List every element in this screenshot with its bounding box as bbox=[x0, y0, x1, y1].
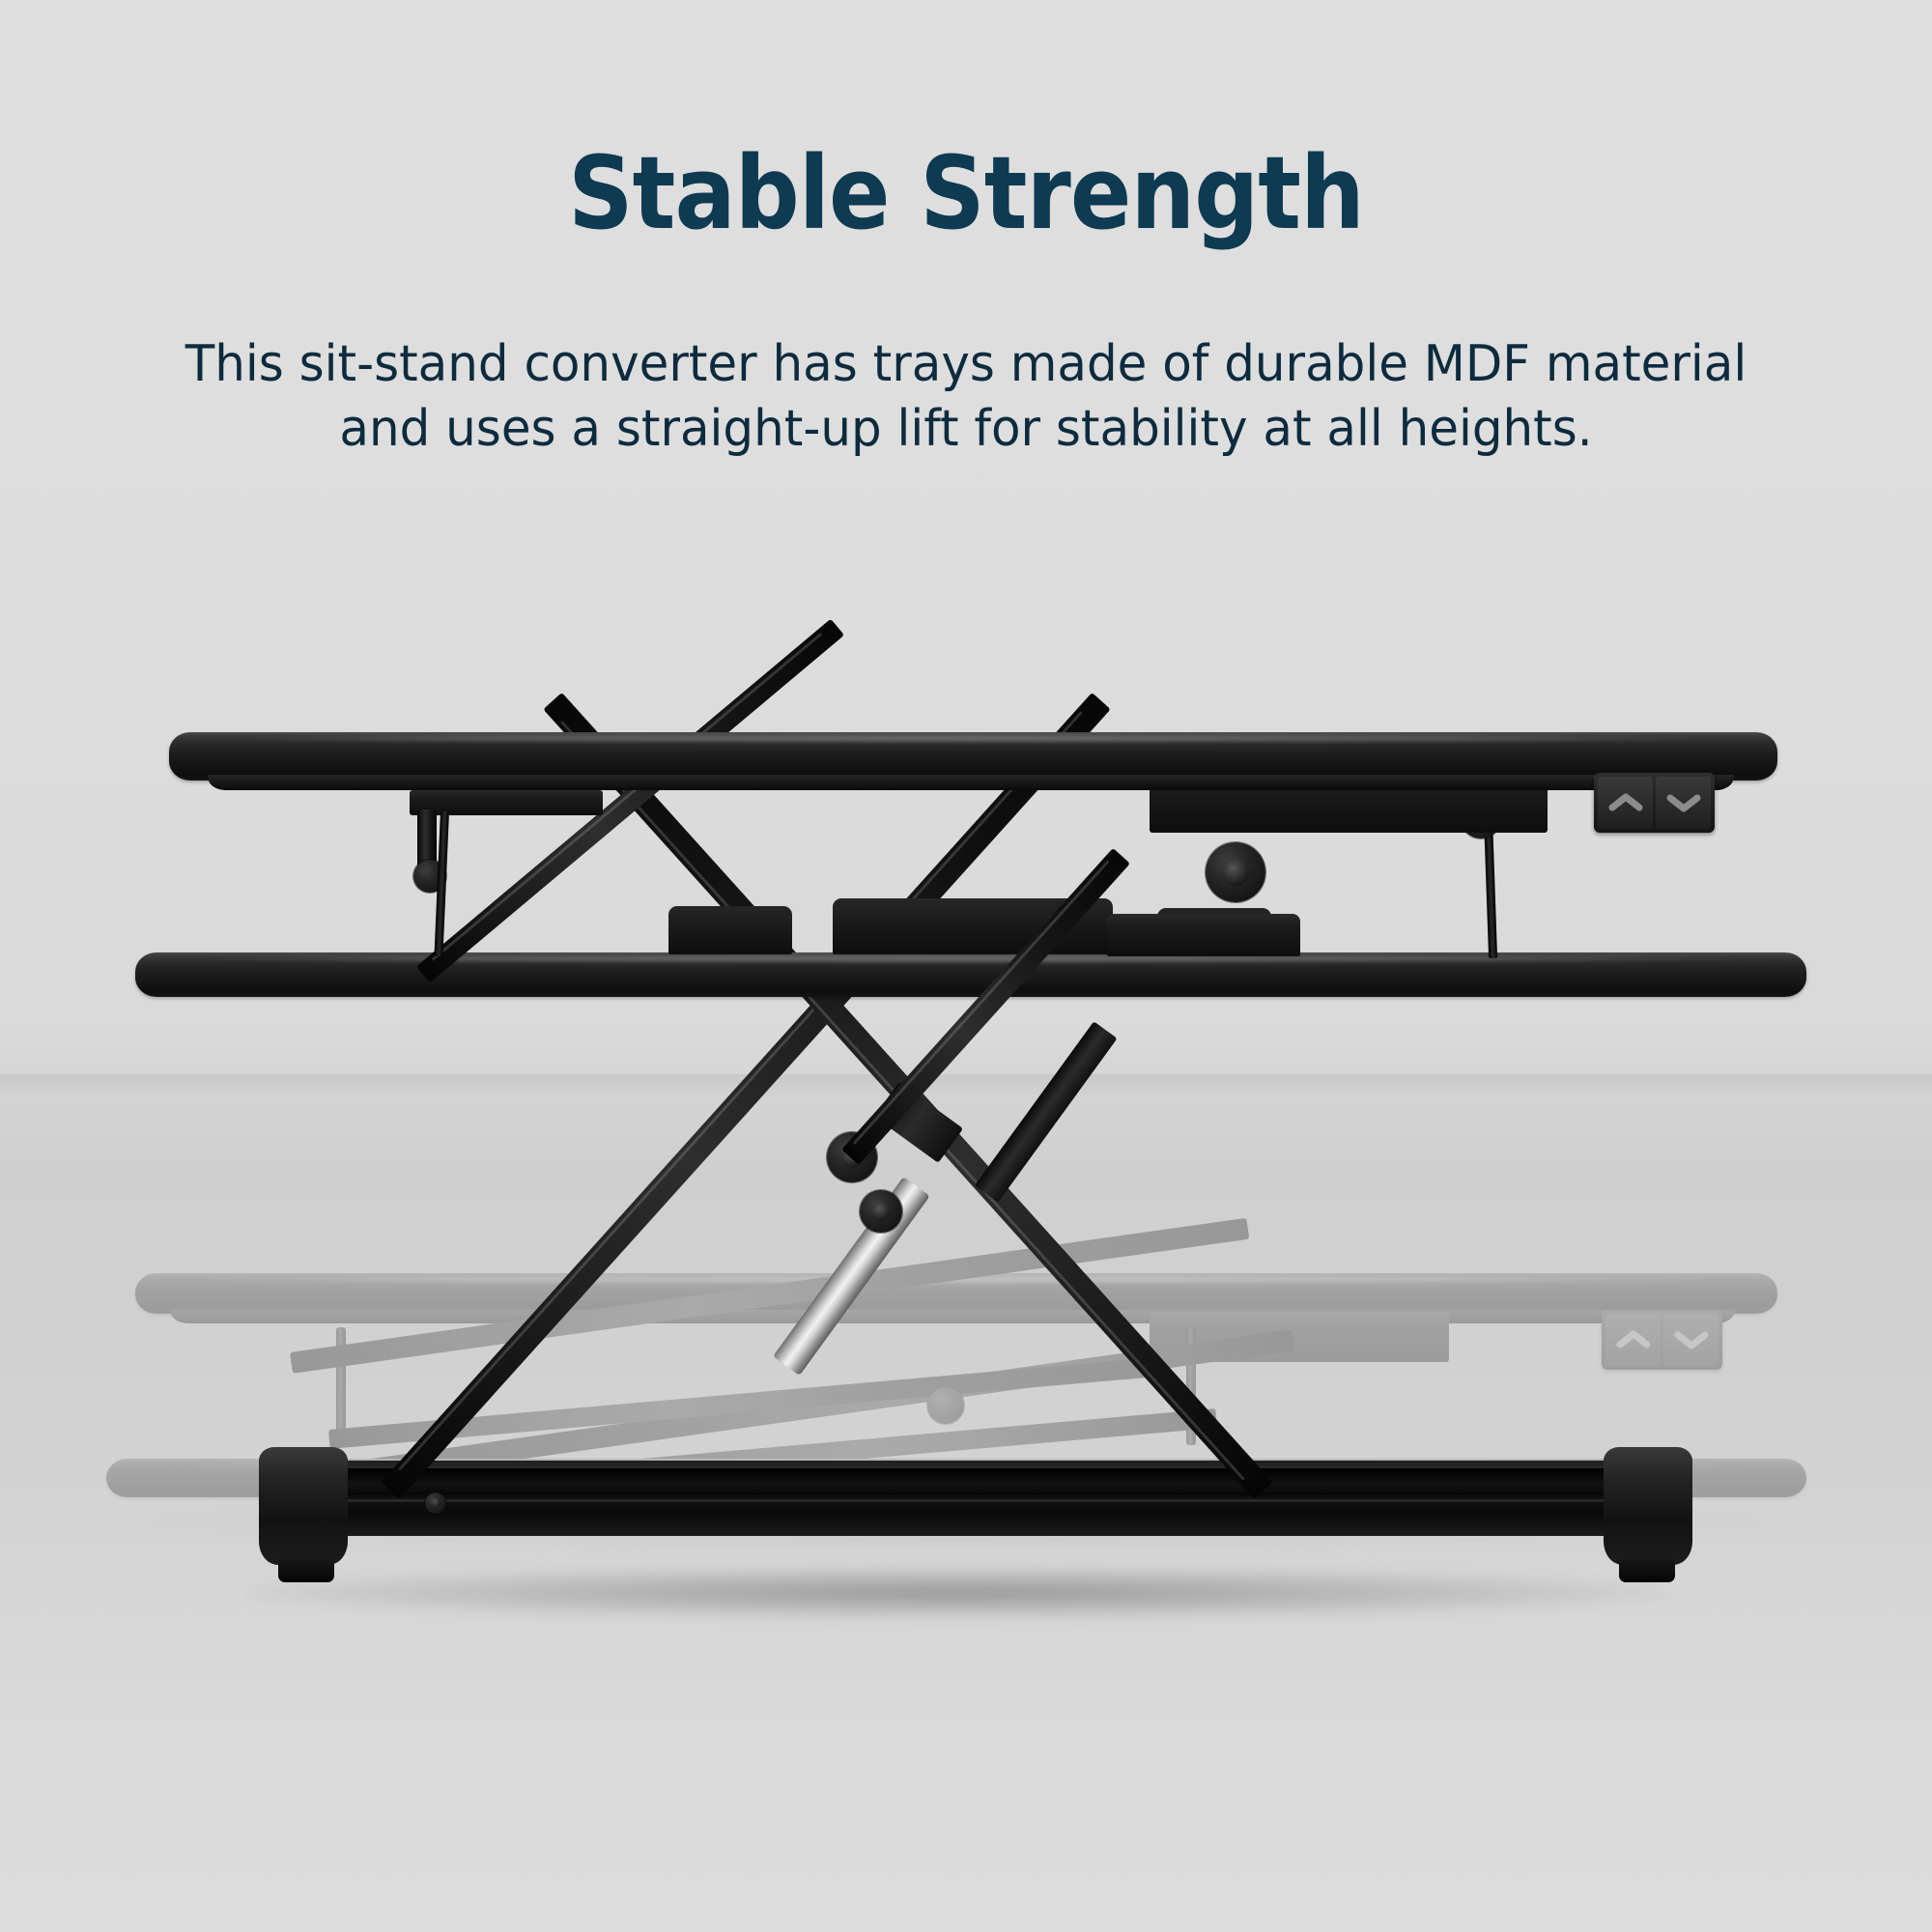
gas-spring-cylinder bbox=[773, 1177, 930, 1376]
keyboard-tray-pad-left bbox=[668, 906, 792, 954]
base-endcap-right bbox=[1604, 1447, 1692, 1565]
support-rod-right bbox=[1484, 817, 1497, 958]
base-endcap-left bbox=[259, 1447, 348, 1565]
x-frame-arm-rising-highlight bbox=[398, 711, 1083, 1471]
upper-linkage-pivot bbox=[1206, 842, 1265, 902]
center-mount-block bbox=[1107, 914, 1300, 956]
gas-spring-lower-bolt bbox=[871, 1202, 891, 1221]
top-tray bbox=[169, 732, 1777, 781]
height-control-pod[interactable] bbox=[1594, 773, 1715, 833]
base-screw bbox=[425, 1492, 446, 1514]
upper-linkage-pivot-bolt bbox=[1222, 859, 1249, 886]
chevron-down-icon bbox=[1664, 790, 1703, 815]
base-rail-highlight bbox=[340, 1499, 1613, 1502]
base-rail-channel bbox=[340, 1468, 1613, 1495]
foot-right bbox=[1619, 1557, 1675, 1582]
lower-button[interactable] bbox=[1656, 777, 1711, 829]
product-floor-shadow bbox=[241, 1567, 1671, 1619]
marketing-image: Stable Strength This sit-stand converter… bbox=[0, 0, 1932, 1932]
upper-linkage-arm bbox=[841, 848, 1130, 1165]
chevron-up-icon bbox=[1606, 790, 1645, 815]
foot-left bbox=[278, 1557, 334, 1582]
gas-spring-lower-mount bbox=[860, 1190, 902, 1233]
base-screw-head bbox=[431, 1498, 440, 1508]
gas-spring-rod bbox=[975, 1021, 1118, 1203]
raise-button[interactable] bbox=[1598, 777, 1653, 829]
product-raised bbox=[0, 0, 1932, 1932]
keyboard-tray bbox=[135, 952, 1806, 997]
left-bracket-plate bbox=[410, 790, 603, 815]
top-tray-lip bbox=[208, 775, 1734, 790]
